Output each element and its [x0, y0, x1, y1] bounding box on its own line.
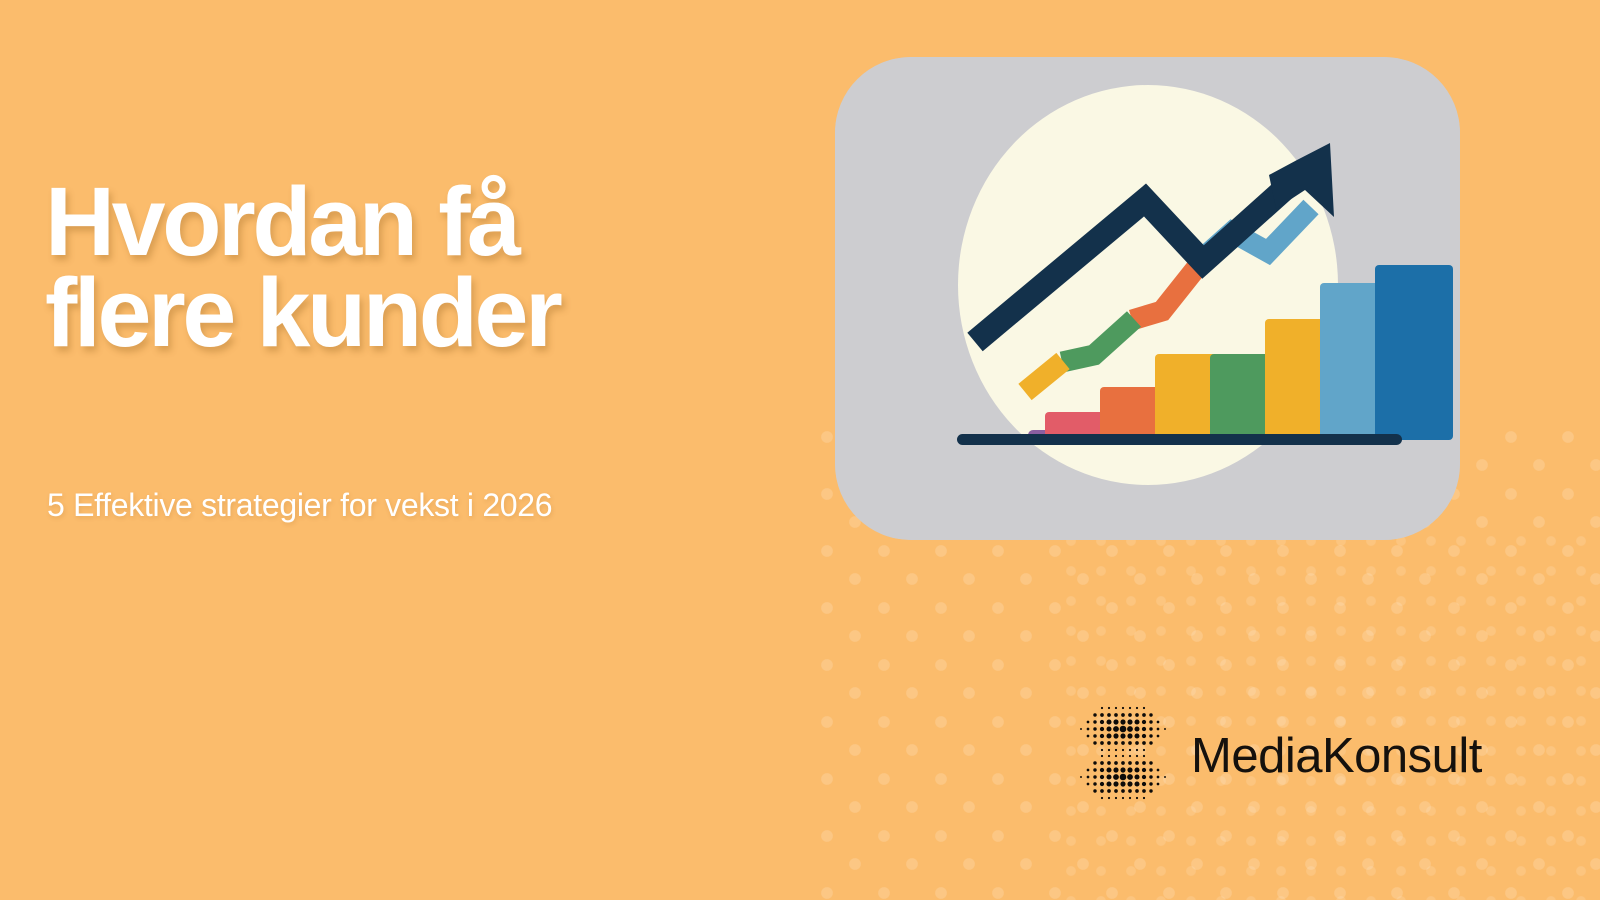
chart-baseline	[957, 434, 1402, 445]
brand-name: MediaKonsult	[1191, 728, 1482, 784]
page-title: Hvordan få flere kunder	[45, 176, 765, 358]
growth-chart-illustration	[835, 57, 1460, 540]
page-subtitle: 5 Effektive strategier for vekst i 2026	[47, 487, 552, 524]
bar-8	[1375, 265, 1453, 440]
brand-logo: MediaKonsult	[1077, 704, 1482, 808]
dotted-hourglass-icon	[1077, 704, 1169, 808]
